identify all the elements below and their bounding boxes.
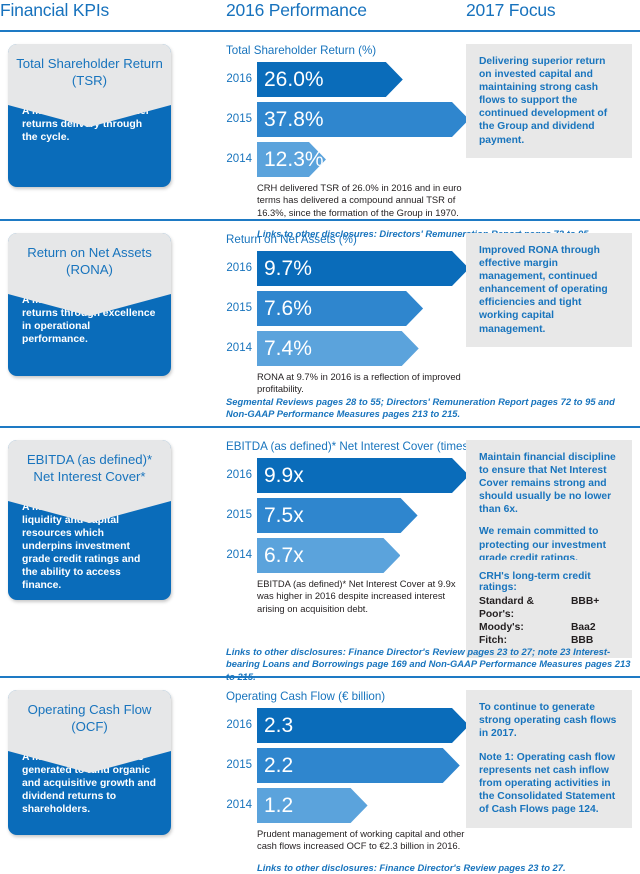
bar-2016: 26.0% bbox=[257, 62, 403, 97]
financial-kpis-page: { "colors": { "brand_blue": "#1874bd", "… bbox=[0, 0, 640, 864]
bar-year-label: 2015 bbox=[226, 302, 252, 314]
bar-row: 20157.5x bbox=[226, 498, 472, 534]
bar-value-label: 2.3 bbox=[264, 715, 293, 736]
bar-year-label: 2015 bbox=[226, 509, 252, 521]
focus-box-ebitda-1: Maintain financial discipline to ensure … bbox=[466, 440, 632, 576]
kpi-section-ebitda: EBITDA (as defined)* Net Interest Cover*… bbox=[0, 428, 640, 676]
focus-paragraph: To continue to generate strong operating… bbox=[479, 701, 620, 740]
kpi-card-title: EBITDA (as defined)* Net Interest Cover* bbox=[8, 440, 171, 501]
kpi-section-ocf: Operating Cash Flow (OCF)A measure of ca… bbox=[0, 678, 640, 870]
credit-rating-row: Moody's:Baa2 bbox=[479, 621, 620, 634]
bar-value-label: 9.7% bbox=[264, 258, 312, 279]
focus-box-rona-1: Improved RONA through effective margin m… bbox=[466, 233, 632, 347]
chart-title: Return on Net Assets (%) bbox=[226, 233, 469, 246]
focus-box-ocf-2: Note 1: Operating cash flow represents n… bbox=[466, 740, 632, 828]
focus-paragraph: Note 1: Operating cash flow represents n… bbox=[479, 751, 620, 816]
kpi-section-tsr: Total Shareholder Return (TSR)A measure … bbox=[0, 32, 640, 219]
rating-agency: Moody's: bbox=[479, 621, 571, 634]
chart-note: EBITDA (as defined)* Net Interest Cover … bbox=[257, 578, 469, 615]
chart-note: Prudent management of working capital an… bbox=[257, 828, 469, 853]
kpi-card-ocf[interactable]: Operating Cash Flow (OCF)A measure of ca… bbox=[8, 690, 171, 835]
credit-rating-row: Standard & Poor's:BBB+ bbox=[479, 595, 620, 621]
bar-year-label: 2014 bbox=[226, 342, 252, 354]
bar-2014: 12.3% bbox=[257, 142, 326, 177]
bar-value-label: 2.2 bbox=[264, 755, 293, 776]
bar-year-label: 2016 bbox=[226, 262, 252, 274]
bar-2015: 7.6% bbox=[257, 291, 423, 326]
kpi-card-title: Operating Cash Flow (OCF) bbox=[8, 690, 171, 751]
bar-year-label: 2015 bbox=[226, 113, 252, 125]
bar-year-label: 2014 bbox=[226, 549, 252, 561]
bar-2016: 2.3 bbox=[257, 708, 469, 743]
bar-value-label: 7.6% bbox=[264, 298, 312, 319]
bar-2016: 9.7% bbox=[257, 251, 469, 286]
focus-paragraph: Maintain financial discipline to ensure … bbox=[479, 451, 620, 516]
bar-value-label: 7.5x bbox=[264, 505, 304, 526]
kpi-card-rona[interactable]: Return on Net Assets (RONA)A measure of … bbox=[8, 233, 171, 376]
rating-value: BBB+ bbox=[571, 595, 599, 621]
chart-note: CRH delivered TSR of 26.0% in 2016 and i… bbox=[257, 182, 469, 219]
rating-agency: Standard & Poor's: bbox=[479, 595, 571, 621]
chart-rona: Return on Net Assets (%)20169.7%20157.6%… bbox=[226, 233, 469, 396]
focus-paragraph: Delivering superior return on invested c… bbox=[479, 55, 620, 147]
kpi-card-ebitda[interactable]: EBITDA (as defined)* Net Interest Cover*… bbox=[8, 440, 171, 600]
bar-year-label: 2016 bbox=[226, 469, 252, 481]
kpi-card-title: Return on Net Assets (RONA) bbox=[8, 233, 171, 294]
chart-ebitda: EBITDA (as defined)* Net Interest Cover … bbox=[226, 440, 472, 615]
focus-paragraph: We remain committed to protecting our in… bbox=[479, 525, 620, 564]
bar-value-label: 12.3% bbox=[264, 149, 324, 170]
chart-note: RONA at 9.7% in 2016 is a reflection of … bbox=[257, 371, 469, 396]
bar-2016: 9.9x bbox=[257, 458, 469, 493]
kpi-sections: Total Shareholder Return (TSR)A measure … bbox=[0, 32, 640, 870]
rating-value: Baa2 bbox=[571, 621, 596, 634]
column-header-2016-performance: 2016 Performance bbox=[226, 0, 367, 21]
column-header-2017-focus: 2017 Focus bbox=[466, 0, 555, 21]
credit-ratings-box: CRH's long-term credit ratings:Standard … bbox=[466, 560, 632, 658]
bar-row: 20146.7x bbox=[226, 538, 472, 574]
bar-value-label: 7.4% bbox=[264, 338, 312, 359]
kpi-section-rona: Return on Net Assets (RONA)A measure of … bbox=[0, 221, 640, 426]
bar-value-label: 26.0% bbox=[264, 69, 324, 90]
bar-year-label: 2016 bbox=[226, 73, 252, 85]
focus-box-tsr-1: Delivering superior return on invested c… bbox=[466, 44, 632, 158]
bar-2014: 7.4% bbox=[257, 331, 419, 366]
bar-2015: 37.8% bbox=[257, 102, 469, 137]
bar-row: 20169.9x bbox=[226, 458, 472, 494]
bar-year-label: 2016 bbox=[226, 719, 252, 731]
chart-title: EBITDA (as defined)* Net Interest Cover … bbox=[226, 440, 472, 453]
bar-value-label: 9.9x bbox=[264, 465, 304, 486]
bar-2015: 7.5x bbox=[257, 498, 418, 533]
bar-2014: 1.2 bbox=[257, 788, 368, 823]
bar-year-label: 2015 bbox=[226, 759, 252, 771]
bar-row: 20169.7% bbox=[226, 251, 469, 287]
column-headers: Financial KPIs 2016 Performance 2017 Foc… bbox=[0, 0, 640, 30]
bar-row: 20157.6% bbox=[226, 291, 469, 327]
bar-row: 20147.4% bbox=[226, 331, 469, 367]
kpi-card-title: Total Shareholder Return (TSR) bbox=[8, 44, 171, 105]
bar-value-label: 1.2 bbox=[264, 795, 293, 816]
bar-2015: 2.2 bbox=[257, 748, 460, 783]
bar-value-label: 6.7x bbox=[264, 545, 304, 566]
bar-value-label: 37.8% bbox=[264, 109, 324, 130]
column-header-financial-kpis: Financial KPIs bbox=[0, 0, 109, 21]
bar-year-label: 2014 bbox=[226, 153, 252, 165]
section-footer-link[interactable]: Segmental Reviews pages 28 to 55; Direct… bbox=[226, 396, 636, 421]
focus-paragraph: Improved RONA through effective margin m… bbox=[479, 244, 620, 336]
bar-2014: 6.7x bbox=[257, 538, 400, 573]
credit-ratings-title: CRH's long-term credit ratings: bbox=[479, 571, 620, 593]
bar-year-label: 2014 bbox=[226, 799, 252, 811]
kpi-card-tsr[interactable]: Total Shareholder Return (TSR)A measure … bbox=[8, 44, 171, 187]
